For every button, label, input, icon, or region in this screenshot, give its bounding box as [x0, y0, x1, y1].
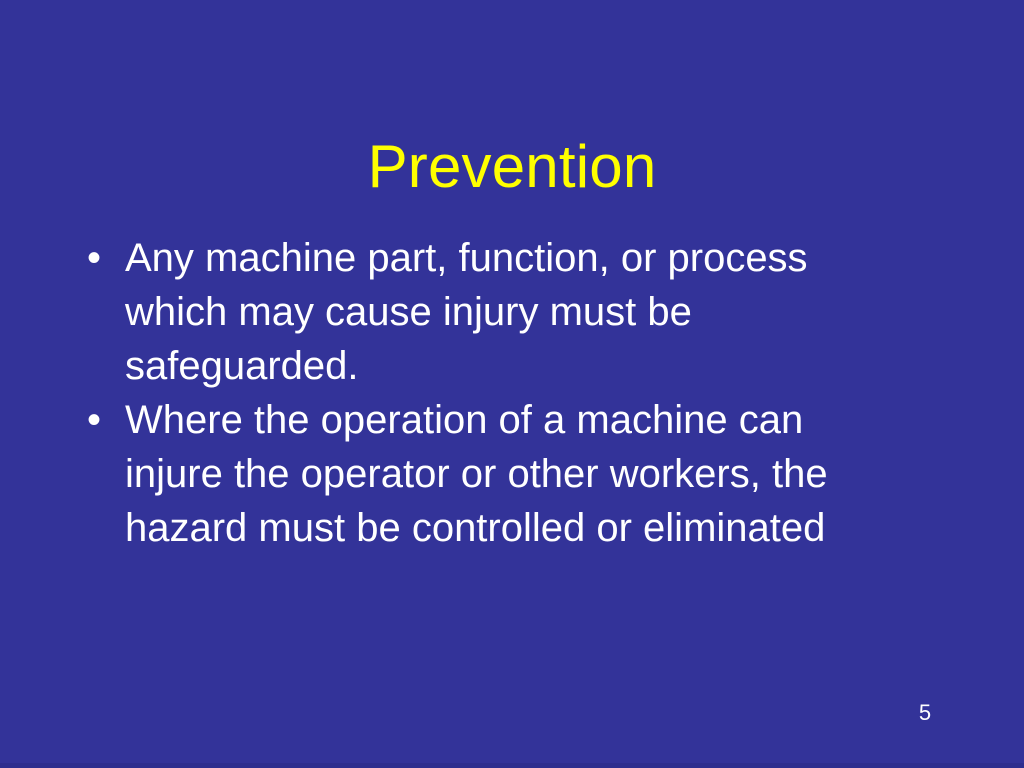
- slide-bottom-edge: [0, 763, 1024, 768]
- bullet-point-icon: •: [78, 393, 125, 447]
- page-number: 5: [900, 700, 950, 726]
- bullet-item-1: • Any machine part, function, or process…: [78, 231, 958, 393]
- bullet-item-2: • Where the operation of a machine can i…: [78, 393, 958, 555]
- slide-body-content: • Any machine part, function, or process…: [78, 231, 958, 555]
- presentation-slide: Prevention • Any machine part, function,…: [0, 0, 1024, 768]
- bullet-item-1-text: Any machine part, function, or process w…: [125, 231, 808, 393]
- slide-title: Prevention: [0, 134, 1024, 200]
- bullet-item-2-text: Where the operation of a machine can inj…: [125, 393, 828, 555]
- bullet-point-icon: •: [78, 231, 125, 285]
